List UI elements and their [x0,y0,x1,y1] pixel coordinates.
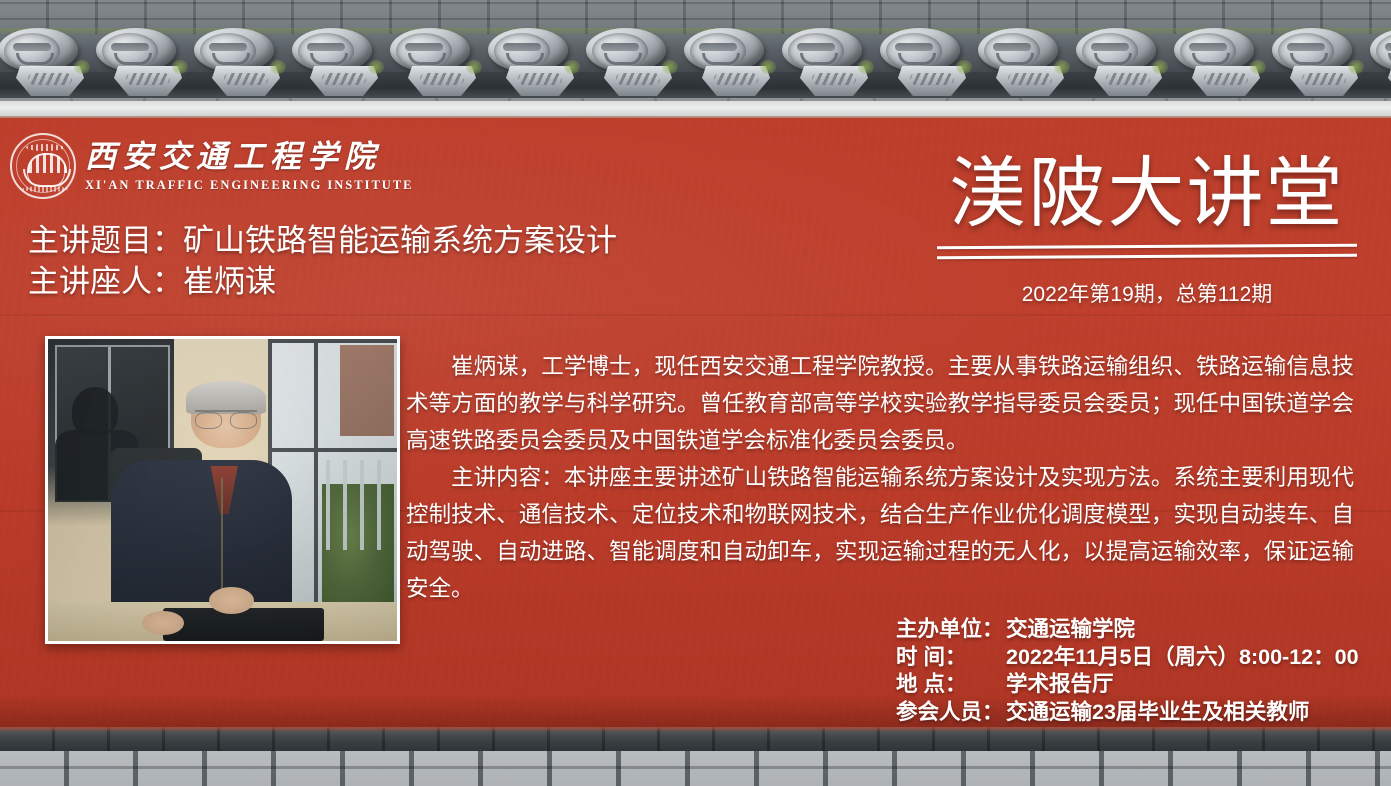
event-detail-value: 交通运输学院 [1006,616,1135,644]
event-details-block: 主办单位：交通运输学院时 间：2022年11月5日（周六）8:00-12：00地… [896,616,1359,726]
roof-tile-row [0,24,1391,104]
roof-tile [480,24,578,104]
event-detail-value: 交通运输23届毕业生及相关教师 [1006,699,1309,727]
speaker-bio-paragraph: 崔炳谋，工学博士，现任西安交通工程学院教授。主要从事铁路运输组织、铁路运输信息技… [406,348,1354,459]
event-detail-row: 参会人员：交通运输23届毕业生及相关教师 [896,699,1359,727]
tile-eave-medallion-icon [494,33,550,69]
divider-rule-top [937,244,1357,250]
base-top-course [0,727,1391,751]
tile-drip-edge [800,66,868,96]
tile-eave-medallion-icon [200,33,256,69]
roof-tile [970,24,1068,104]
tile-eave-medallion-icon [1082,33,1138,69]
tile-drip-edge [996,66,1064,96]
wall-seam [0,314,1391,316]
roof-tile [1264,24,1362,104]
tile-drip-edge [506,66,574,96]
tile-eave-medallion-icon [298,33,354,69]
university-logo: 西安交通工程学院 XI'AN TRAFFIC ENGINEERING INSTI… [10,133,414,199]
tile-drip-edge [604,66,672,96]
roof-tile [382,24,480,104]
brand-title: 渼陂大讲堂 [937,152,1357,236]
lecture-headings: 主讲题目：矿山铁路智能运输系统方案设计 主讲座人：崔炳谋 [28,220,617,302]
roof-tile [186,24,284,104]
lecture-speaker-line: 主讲座人：崔炳谋 [28,261,617,302]
tile-eave-medallion-icon [886,33,942,69]
roof-tile [1166,24,1264,104]
brand-issue-number: 2022年第19期，总第112期 [937,278,1357,308]
photo-vignette [48,339,397,641]
university-name-en: XI'AN TRAFFIC ENGINEERING INSTITUTE [85,179,414,192]
event-detail-label: 时 间： [896,644,1006,672]
tile-eave-medallion-icon [1180,33,1236,69]
roof-tile [284,24,382,104]
tile-drip-edge [1192,66,1260,96]
tile-eave-medallion-icon [690,33,746,69]
event-detail-label: 参会人员： [896,699,1006,727]
event-detail-value: 学术报告厅 [1006,671,1114,699]
tile-drip-edge [898,66,966,96]
tile-eave-medallion-icon [788,33,844,69]
tile-drip-edge [310,66,378,96]
tile-drip-edge [212,66,280,96]
emblem-top-text-ring [26,144,64,151]
tile-eave-medallion-icon [592,33,648,69]
lecture-poster: 西安交通工程学院 XI'AN TRAFFIC ENGINEERING INSTI… [0,0,1391,786]
tile-drip-edge [1290,66,1358,96]
event-detail-label: 地 点： [896,671,1006,699]
university-emblem-icon [10,133,76,199]
lecture-content-paragraph: 主讲内容：本讲座主要讲述矿山铁路智能运输系统方案设计及实现方法。系统主要利用现代… [406,459,1354,607]
tile-drip-edge [114,66,182,96]
roof-tile [774,24,872,104]
base-brick-course [0,751,1391,786]
brand-block: 渼陂大讲堂 2022年第19期，总第112期 [937,152,1357,308]
tile-eave-medallion-icon [396,33,452,69]
event-detail-value: 2022年11月5日（周六）8:00-12：00 [1006,644,1359,672]
lecture-topic-line: 主讲题目：矿山铁路智能运输系统方案设计 [28,220,617,261]
event-detail-row: 地 点：学术报告厅 [896,671,1359,699]
tile-drip-edge [1094,66,1162,96]
tile-eave-medallion-icon [984,33,1040,69]
lecture-description: 崔炳谋，工学博士，现任西安交通工程学院教授。主要从事铁路运输组织、铁路运输信息技… [406,348,1354,607]
speaker-photo [45,336,400,644]
roof-tile [88,24,186,104]
tile-eave-medallion-icon [1278,33,1334,69]
roof-tile [1068,24,1166,104]
event-detail-label: 主办单位： [896,616,1006,644]
tile-drip-edge [702,66,770,96]
event-detail-row: 时 间：2022年11月5日（周六）8:00-12：00 [896,644,1359,672]
divider-rule-bottom [937,254,1357,260]
stone-base [0,727,1391,786]
tile-eave-medallion-icon [4,33,60,69]
tile-drip-edge [408,66,476,96]
roof-tile [872,24,970,104]
event-detail-row: 主办单位：交通运输学院 [896,616,1359,644]
emblem-bottom-text-ring [22,186,68,192]
roof-tile [0,24,88,104]
university-name-cn: 西安交通工程学院 [85,141,414,172]
tile-drip-edge [16,66,84,96]
roof-tile [578,24,676,104]
roof-tile [676,24,774,104]
roof-tile [1362,24,1391,104]
tile-eave-medallion-icon [102,33,158,69]
brand-divider-rules [937,242,1357,262]
university-name-block: 西安交通工程学院 XI'AN TRAFFIC ENGINEERING INSTI… [85,141,414,192]
